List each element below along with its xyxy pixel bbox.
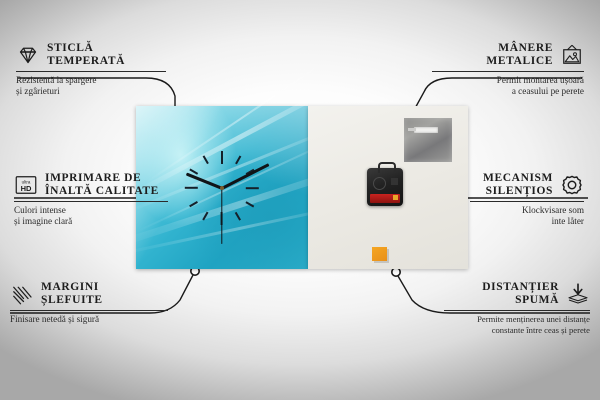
feature-mecanism-silentios: MECANISM SILENȚIOS Klockvisare som inte …	[470, 172, 584, 226]
gear-icon	[560, 173, 584, 197]
feature-divider	[432, 71, 584, 72]
feature-title-line2: ÎNALTĂ CALITATE	[45, 185, 159, 198]
feature-title-line1: IMPRIMARE DE	[45, 172, 159, 185]
feature-subtitle-line2: și imagine clară	[14, 216, 168, 227]
feature-divider	[10, 310, 168, 311]
svg-text:HD: HD	[21, 184, 32, 193]
feature-divider	[14, 201, 168, 202]
foam-spacer-icon	[566, 282, 590, 306]
feature-subtitle-line2: constante între ceas și perete	[444, 325, 590, 336]
feature-divider	[16, 71, 166, 72]
feature-title-line1: MARGINI	[41, 281, 103, 294]
feature-title-line1: DISTANȚIER	[482, 281, 559, 294]
feature-subtitle-line2: și zgârieturi	[16, 86, 166, 97]
feature-subtitle-line2: inte låter	[470, 216, 584, 227]
picture-hanger-icon	[560, 43, 584, 67]
feature-subtitle-line1: Culori intense	[14, 205, 168, 216]
feature-title-line2: METALICE	[486, 55, 553, 68]
infographic-canvas: STICLĂ TEMPERATĂ Rezistentă la spargere …	[0, 0, 600, 400]
feature-title-line2: SPUMĂ	[482, 294, 559, 307]
feature-divider	[470, 201, 584, 202]
foam-spacer	[372, 247, 387, 261]
feature-margini-slefuite: MARGINI ȘLEFUITE Finisare netedă și sigu…	[10, 281, 168, 325]
feature-title-line1: MECANISM	[483, 172, 553, 185]
clock-center-hub	[220, 186, 224, 190]
feature-subtitle-line2: a ceasului pe perete	[432, 86, 584, 97]
feature-manere-metalice: MÂNERE METALICE Permit montarea ușoară a…	[432, 42, 584, 96]
feature-sticla-temperata: STICLĂ TEMPERATĂ Rezistentă la spargere …	[16, 42, 166, 96]
feature-title-line2: SILENȚIOS	[483, 185, 553, 198]
feature-subtitle-line1: Permite menținerea unei distanțe	[444, 314, 590, 325]
connector-dot-distantier	[392, 268, 400, 276]
ultra-hd-icon: ultra HD	[14, 173, 38, 197]
battery	[370, 194, 400, 203]
feature-title-line1: STICLĂ	[47, 42, 125, 55]
feature-imprimare-inalta-calitate: ultra HD IMPRIMARE DE ÎNALTĂ CALITATE Cu…	[14, 172, 168, 226]
clock-mechanism	[367, 168, 403, 206]
feature-title-line2: TEMPERATĂ	[47, 55, 125, 68]
metal-hanger-plate	[404, 118, 452, 162]
feature-title-line1: MÂNERE	[486, 42, 553, 55]
polished-edges-icon	[10, 282, 34, 306]
feature-subtitle-line1: Klockvisare som	[470, 205, 584, 216]
feature-divider	[444, 310, 590, 311]
diamond-icon	[16, 43, 40, 67]
feature-distantier-spuma: DISTANȚIER SPUMĂ Permite menținerea unei…	[444, 281, 590, 335]
feature-subtitle-line1: Rezistentă la spargere	[16, 75, 166, 86]
product-image-clock-back	[308, 106, 468, 269]
feature-subtitle-line1: Finisare netedă și sigură	[10, 314, 168, 325]
feature-subtitle-line1: Permit montarea ușoară	[432, 75, 584, 86]
feature-title-line2: ȘLEFUITE	[41, 294, 103, 307]
